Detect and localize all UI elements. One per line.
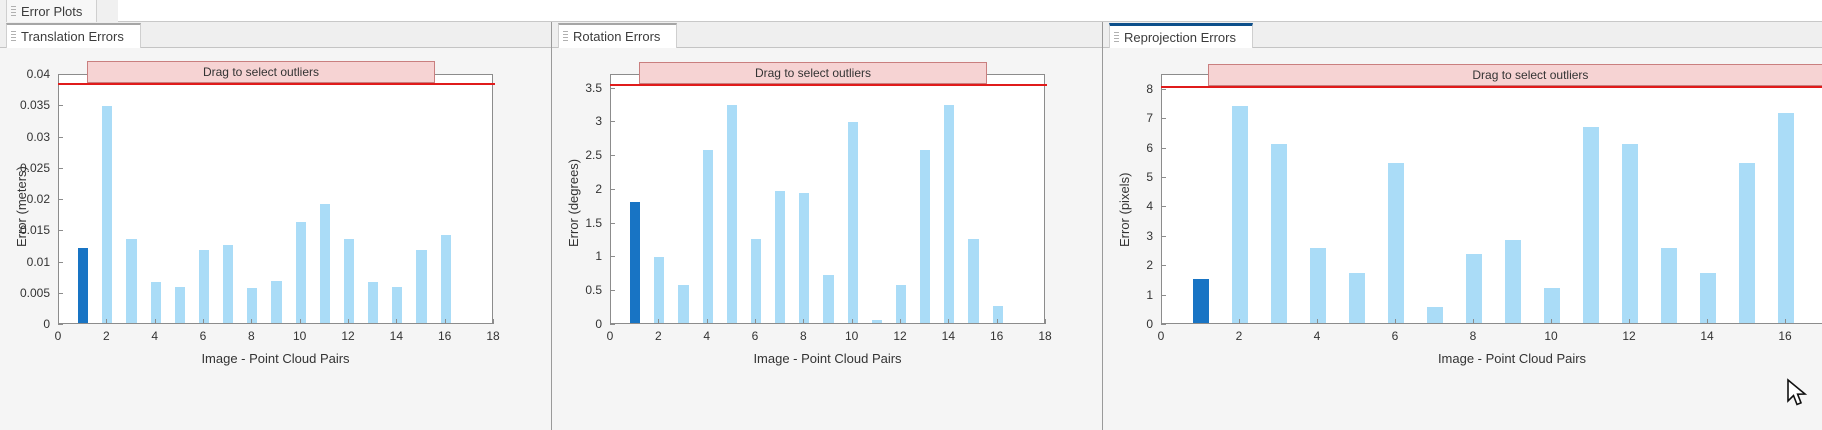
bar[interactable] <box>944 105 954 323</box>
y-tick-label: 1 <box>552 249 602 263</box>
grip-icon <box>1114 31 1119 44</box>
x-tickmark <box>610 319 611 324</box>
bar[interactable] <box>1583 127 1599 323</box>
x-tickmark <box>155 319 156 324</box>
bar[interactable] <box>151 282 161 323</box>
x-tick-label: 10 <box>293 329 306 343</box>
bar[interactable] <box>296 222 306 323</box>
y-tickmark <box>610 121 615 122</box>
x-tickmark <box>396 319 397 324</box>
figure-tabbar-1: Translation Errors <box>0 22 551 48</box>
y-tickmark <box>1161 206 1166 207</box>
x-tick-label: 2 <box>1236 329 1243 343</box>
x-tickmark <box>251 319 252 324</box>
y-tick-label: 0.04 <box>0 67 50 81</box>
x-tick-label: 16 <box>990 329 1003 343</box>
x-tick-label: 12 <box>893 329 906 343</box>
bar[interactable] <box>1739 163 1755 323</box>
y-tick-label: 0.035 <box>0 98 50 112</box>
bar[interactable] <box>896 285 906 323</box>
x-tickmark <box>803 319 804 324</box>
bar[interactable] <box>1232 106 1248 323</box>
bar[interactable] <box>727 105 737 323</box>
bar-series <box>59 75 492 323</box>
x-tick-label: 8 <box>1470 329 1477 343</box>
chart-axes <box>58 74 493 324</box>
x-tickmark <box>1629 319 1630 324</box>
document-tab-label: Error Plots <box>21 4 82 19</box>
y-tickmark <box>1161 324 1166 325</box>
x-tickmark <box>348 319 349 324</box>
bar[interactable] <box>1778 113 1794 323</box>
x-tickmark <box>1161 319 1162 324</box>
plot-area-2: 00.511.522.533.5024681012141618Error (de… <box>552 48 1102 430</box>
bar[interactable] <box>392 287 402 323</box>
y-tickmark <box>610 223 615 224</box>
x-tickmark <box>1045 319 1046 324</box>
outlier-threshold-line[interactable] <box>1161 86 1822 88</box>
document-tabbar-filler <box>118 0 1822 22</box>
y-tickmark <box>58 230 63 231</box>
x-tick-label: 8 <box>800 329 807 343</box>
x-tick-label: 0 <box>607 329 614 343</box>
x-tick-label: 18 <box>486 329 499 343</box>
y-tick-label: 0 <box>0 317 50 331</box>
y-tickmark <box>58 168 63 169</box>
plot-panel-1: Translation Errors00.0050.010.0150.020.0… <box>0 22 551 430</box>
bar[interactable] <box>751 239 761 323</box>
figure-tab-label: Translation Errors <box>21 29 124 44</box>
document-tabbar: Error Plots <box>0 0 1822 23</box>
figure-tabbar-3: Reprojection Errors <box>1103 22 1822 48</box>
y-tick-label: 0.5 <box>552 283 602 297</box>
bar-series <box>1162 75 1822 323</box>
y-tick-label: 2 <box>1103 258 1153 272</box>
document-tab-error-plots[interactable]: Error Plots <box>6 0 97 22</box>
bar[interactable] <box>1700 273 1716 323</box>
x-tickmark <box>755 319 756 324</box>
x-tickmark <box>1239 319 1240 324</box>
bar[interactable] <box>1622 144 1638 323</box>
y-tickmark <box>610 155 615 156</box>
bar[interactable] <box>102 106 112 324</box>
y-tickmark <box>58 293 63 294</box>
bar[interactable] <box>1661 248 1677 323</box>
x-tickmark <box>948 319 949 324</box>
x-tick-label: 2 <box>655 329 662 343</box>
bar[interactable] <box>344 239 354 323</box>
y-tickmark <box>1161 148 1166 149</box>
x-tickmark <box>900 319 901 324</box>
x-tick-label: 14 <box>942 329 955 343</box>
bar[interactable] <box>920 150 930 323</box>
plot-area-1: 00.0050.010.0150.020.0250.030.0350.04024… <box>0 48 551 430</box>
y-tickmark <box>610 88 615 89</box>
x-tickmark <box>1395 319 1396 324</box>
figure-tab-rotation-errors[interactable]: Rotation Errors <box>558 23 677 48</box>
x-tickmark <box>203 319 204 324</box>
bar[interactable] <box>678 285 688 323</box>
x-tick-label: 6 <box>752 329 759 343</box>
bar[interactable] <box>271 281 281 324</box>
plot-panel-2: Rotation Errors00.511.522.533.5024681012… <box>551 22 1102 430</box>
bar[interactable] <box>78 248 88 323</box>
y-tick-label: 0 <box>552 317 602 331</box>
y-tickmark <box>610 324 615 325</box>
x-tickmark <box>707 319 708 324</box>
x-tick-label: 16 <box>438 329 451 343</box>
x-tick-label: 12 <box>1622 329 1635 343</box>
bar[interactable] <box>320 204 330 323</box>
bar[interactable] <box>1271 144 1287 323</box>
x-axis-label: Image - Point Cloud Pairs <box>1161 351 1822 366</box>
y-tick-label: 6 <box>1103 141 1153 155</box>
x-axis-label: Image - Point Cloud Pairs <box>610 351 1045 366</box>
bar[interactable] <box>775 191 785 323</box>
y-tick-label: 7 <box>1103 111 1153 125</box>
x-tick-label: 10 <box>1544 329 1557 343</box>
x-tickmark <box>1473 319 1474 324</box>
outlier-select-band[interactable]: Drag to select outliers <box>639 62 987 84</box>
y-tickmark <box>58 105 63 106</box>
x-tick-label: 6 <box>200 329 207 343</box>
bar[interactable] <box>441 235 451 323</box>
y-tickmark <box>58 74 63 75</box>
x-tickmark <box>1551 319 1552 324</box>
y-tickmark <box>610 256 615 257</box>
bar[interactable] <box>175 287 185 323</box>
bar[interactable] <box>872 320 882 323</box>
x-tickmark <box>58 319 59 324</box>
bar[interactable] <box>1388 163 1404 323</box>
x-tickmark <box>997 319 998 324</box>
x-tick-label: 4 <box>151 329 158 343</box>
bar[interactable] <box>1349 273 1365 323</box>
x-tick-label: 16 <box>1778 329 1791 343</box>
bar[interactable] <box>630 202 640 323</box>
bar[interactable] <box>416 250 426 323</box>
bar[interactable] <box>703 150 713 323</box>
y-tickmark <box>610 189 615 190</box>
y-tickmark <box>58 199 63 200</box>
grip-icon <box>563 30 568 43</box>
figure-tab-reprojection-errors[interactable]: Reprojection Errors <box>1109 23 1253 48</box>
y-tick-label: 0.03 <box>0 130 50 144</box>
plot-panels: Translation Errors00.0050.010.0150.020.0… <box>0 22 1822 430</box>
bar-series <box>611 75 1044 323</box>
x-tickmark <box>1785 319 1786 324</box>
x-tick-label: 0 <box>55 329 62 343</box>
bar[interactable] <box>823 275 833 323</box>
y-tickmark <box>58 137 63 138</box>
x-tick-label: 14 <box>1700 329 1713 343</box>
x-tick-label: 4 <box>1314 329 1321 343</box>
y-tickmark <box>1161 89 1166 90</box>
figure-tabbar-2: Rotation Errors <box>552 22 1102 48</box>
bar[interactable] <box>223 245 233 323</box>
bar[interactable] <box>1427 307 1443 323</box>
outlier-select-band[interactable]: Drag to select outliers <box>87 61 435 83</box>
y-axis-label: Error (degrees) <box>566 159 581 247</box>
y-tickmark <box>1161 177 1166 178</box>
x-tick-label: 12 <box>341 329 354 343</box>
x-tickmark <box>493 319 494 324</box>
x-tick-label: 18 <box>1038 329 1051 343</box>
y-axis-label: Error (pixels) <box>1117 173 1132 247</box>
x-tickmark <box>1707 319 1708 324</box>
y-tick-label: 1 <box>1103 288 1153 302</box>
y-tickmark <box>1161 265 1166 266</box>
x-tickmark <box>445 319 446 324</box>
outlier-band-label: Drag to select outliers <box>755 66 871 80</box>
error-plots-window: Error Plots Translation Errors00.0050.01… <box>0 0 1822 430</box>
y-tickmark <box>58 324 63 325</box>
y-tick-label: 3.5 <box>552 81 602 95</box>
bar[interactable] <box>968 239 978 323</box>
x-tick-label: 0 <box>1158 329 1165 343</box>
bar[interactable] <box>199 250 209 323</box>
figure-tab-label: Reprojection Errors <box>1124 30 1236 45</box>
bar[interactable] <box>1310 248 1326 323</box>
y-tickmark <box>1161 295 1166 296</box>
bar[interactable] <box>247 288 257 323</box>
x-tickmark <box>300 319 301 324</box>
x-tickmark <box>852 319 853 324</box>
outlier-band-label: Drag to select outliers <box>1472 68 1588 82</box>
figure-tab-label: Rotation Errors <box>573 29 660 44</box>
bar[interactable] <box>848 122 858 323</box>
outlier-threshold-line[interactable] <box>58 83 495 85</box>
bar[interactable] <box>654 257 664 323</box>
chart-axes <box>610 74 1045 324</box>
outlier-threshold-line[interactable] <box>610 84 1047 86</box>
grip-icon <box>11 30 16 43</box>
bar[interactable] <box>1466 254 1482 323</box>
x-tick-label: 14 <box>390 329 403 343</box>
figure-tab-translation-errors[interactable]: Translation Errors <box>6 23 141 48</box>
x-tickmark <box>658 319 659 324</box>
y-axis-label: Error (meters) <box>14 166 29 247</box>
x-tickmark <box>1317 319 1318 324</box>
x-tick-label: 6 <box>1392 329 1399 343</box>
bar[interactable] <box>126 239 136 323</box>
outlier-select-band[interactable]: Drag to select outliers <box>1208 64 1822 86</box>
y-tickmark <box>58 262 63 263</box>
y-tick-label: 0.01 <box>0 255 50 269</box>
bar[interactable] <box>1544 288 1560 323</box>
y-tickmark <box>610 290 615 291</box>
bar[interactable] <box>368 282 378 323</box>
chart-axes <box>1161 74 1822 324</box>
y-tickmark <box>1161 118 1166 119</box>
y-tick-label: 3 <box>552 114 602 128</box>
y-tick-label: 0 <box>1103 317 1153 331</box>
outlier-band-label: Drag to select outliers <box>203 65 319 79</box>
bar[interactable] <box>1193 279 1209 323</box>
y-tick-label: 0.005 <box>0 286 50 300</box>
bar[interactable] <box>799 193 809 323</box>
plot-area-3: 012345678024681012141618Error (pixels)Im… <box>1103 48 1822 430</box>
plot-panel-3: Reprojection Errors012345678024681012141… <box>1102 22 1822 430</box>
y-tickmark <box>1161 236 1166 237</box>
grip-icon <box>11 5 16 18</box>
y-tick-label: 8 <box>1103 82 1153 96</box>
x-tick-label: 4 <box>703 329 710 343</box>
x-axis-label: Image - Point Cloud Pairs <box>58 351 493 366</box>
bar[interactable] <box>1505 240 1521 323</box>
x-tick-label: 2 <box>103 329 110 343</box>
x-tick-label: 8 <box>248 329 255 343</box>
x-tick-label: 10 <box>845 329 858 343</box>
x-tickmark <box>106 319 107 324</box>
